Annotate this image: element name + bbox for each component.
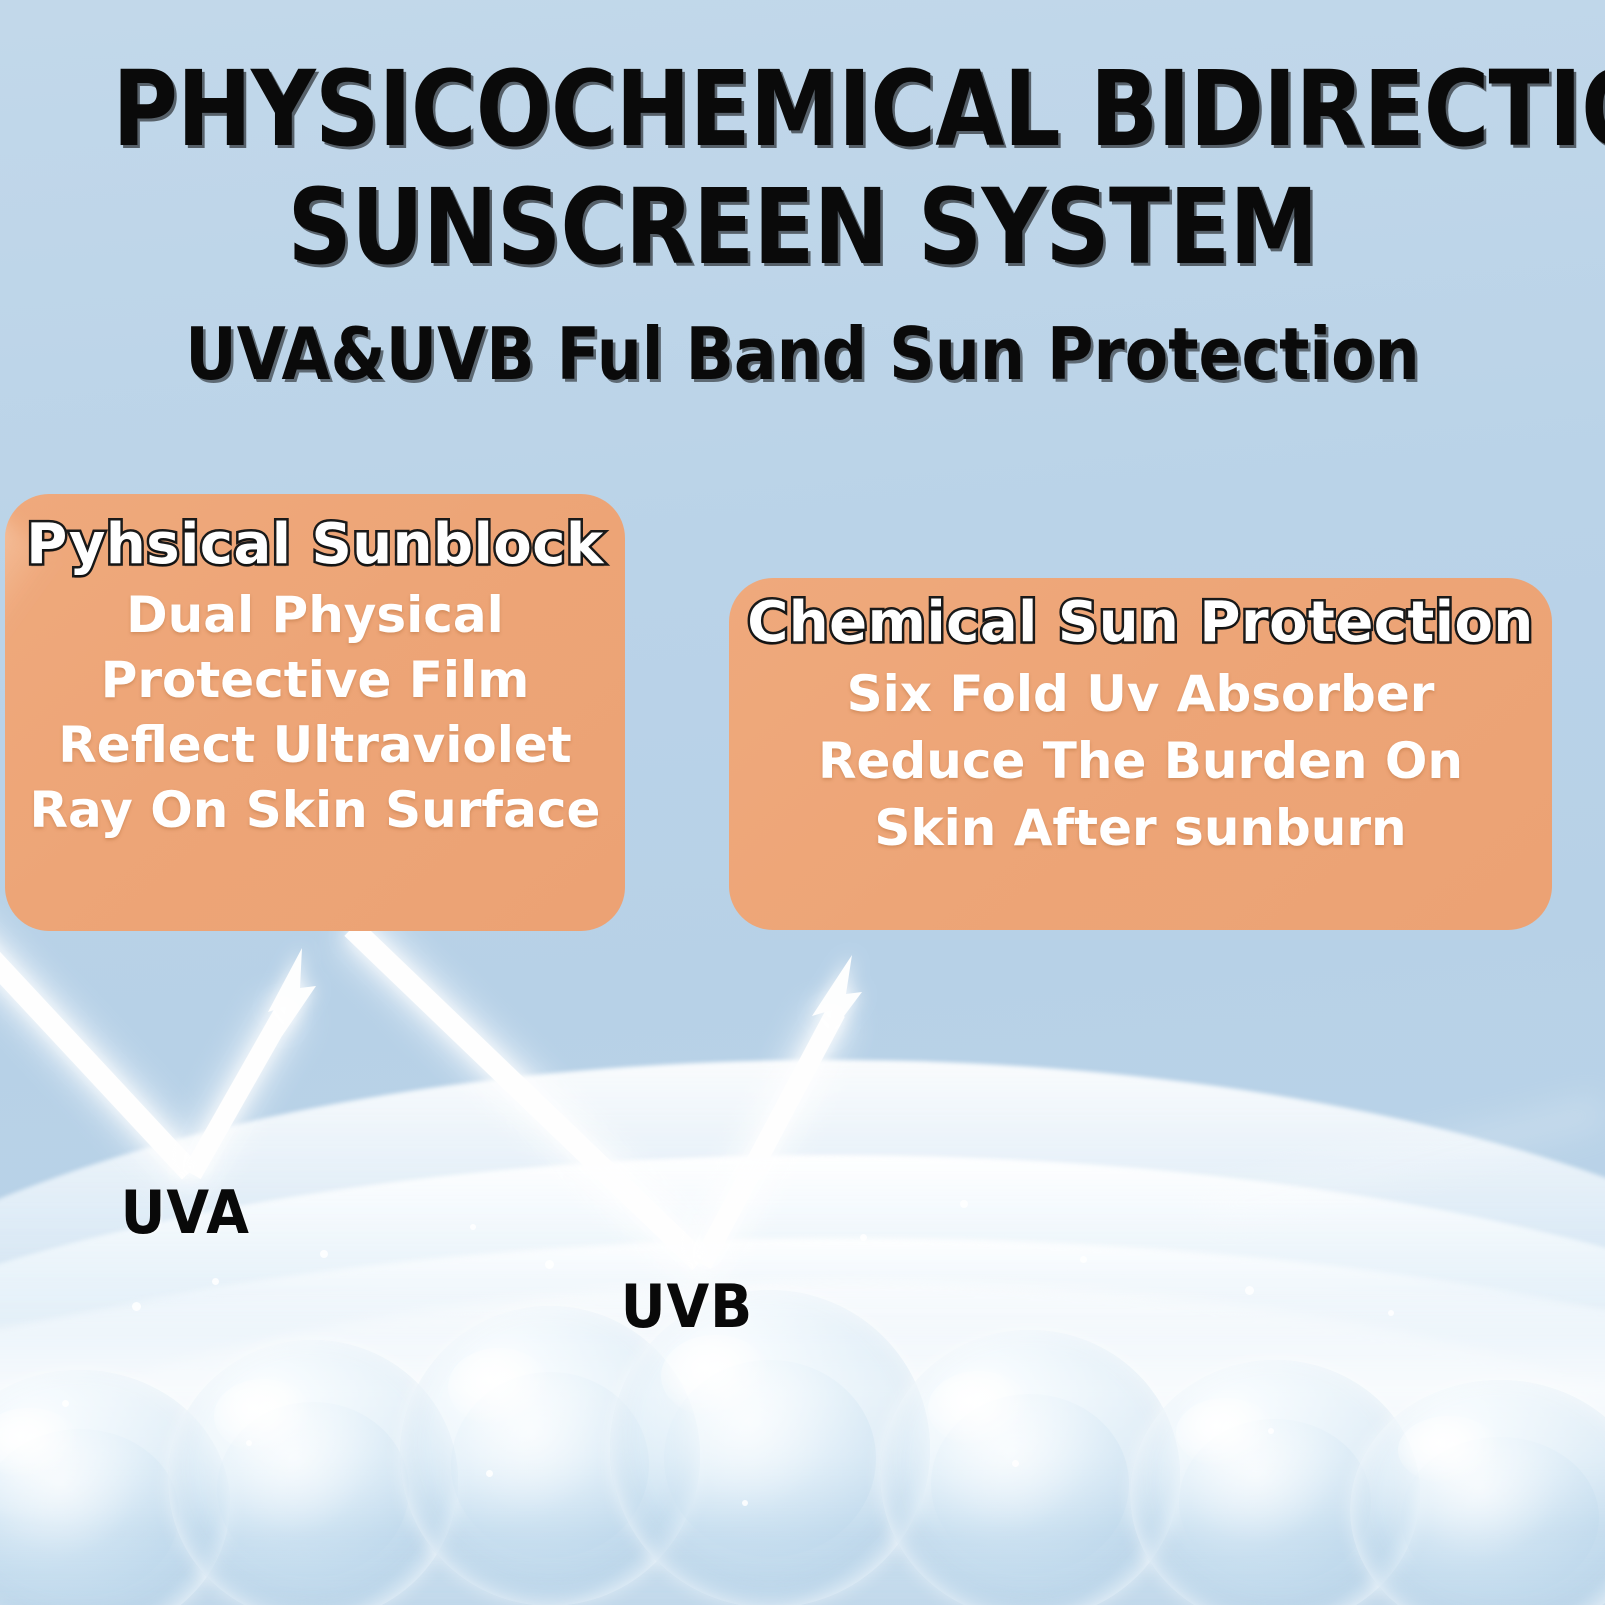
infographic-canvas: PHYSICOCHEMICAL BIDIRECTIONAL SUNSCREEN …: [0, 0, 1605, 1605]
panel-physical-line: Ray On Skin Surface: [5, 778, 625, 843]
uvb-reflected-arrow: [702, 955, 862, 1264]
uvb-label: UVB: [621, 1272, 753, 1342]
panel-chemical-lines: Six Fold Uv Absorber Reduce The Burden O…: [729, 661, 1552, 862]
ambient-beam-glow: [1210, 1110, 1605, 1210]
panel-chemical-heading: Chemical Sun Protection: [729, 594, 1552, 653]
panel-physical-lines: Dual Physical Protective Film Reflect Ul…: [5, 583, 625, 843]
page-subtitle: UVA&UVB Ful Band Sun Protection: [96, 312, 1508, 396]
panel-physical-heading: Pyhsical Sunblock: [5, 516, 625, 575]
uva-label: UVA: [121, 1178, 250, 1248]
uva-reflected-arrow: [192, 948, 316, 1174]
panel-physical-line: Dual Physical: [5, 583, 625, 648]
panel-physical-sunblock: Pyhsical Sunblock Dual Physical Protecti…: [5, 494, 625, 931]
panel-chemical-line: Six Fold Uv Absorber: [729, 661, 1552, 728]
panel-chemical-line: Skin After sunburn: [729, 795, 1552, 862]
panel-chemical-sun-protection: Chemical Sun Protection Six Fold Uv Abso…: [729, 578, 1552, 930]
uvb-incoming-ray: [352, 928, 700, 1262]
panel-chemical-line: Reduce The Burden On: [729, 728, 1552, 795]
panel-physical-line: Reflect Ultraviolet: [5, 713, 625, 778]
page-title-line-1: PHYSICOCHEMICAL BIDIRECTIONAL: [112, 48, 1492, 170]
panel-physical-line: Protective Film: [5, 648, 625, 713]
page-title-line-2: SUNSCREEN SYSTEM: [112, 166, 1492, 288]
uva-incoming-ray: [0, 925, 190, 1172]
